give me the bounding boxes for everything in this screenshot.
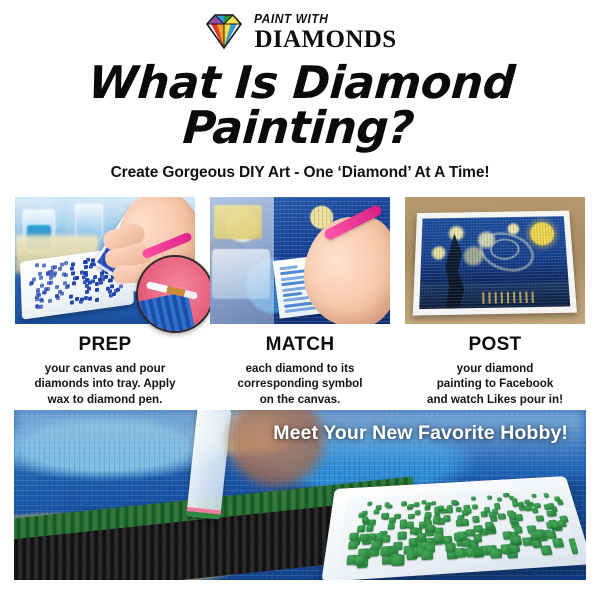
hobby-banner[interactable]: Meet Your New Favorite Hobby! [14, 410, 586, 580]
step-caption-post: POST your diamond painting to Facebook a… [405, 334, 585, 407]
step-title-match: MATCH [210, 334, 390, 356]
page-title: What Is Diamond Painting? [0, 60, 600, 150]
step-title-prep: PREP [15, 334, 195, 356]
step-body-line: your diamond [405, 361, 585, 376]
page-subtitle: Create Gorgeous DIY Art - One ‘Diamond’ … [0, 164, 600, 182]
step-body-line: on the canvas. [210, 392, 390, 407]
step-body-line: wax to diamond pen. [15, 392, 195, 407]
step-panel-match[interactable] [210, 197, 390, 324]
step-body-line: each diamond to its [210, 361, 390, 376]
brand-logo[interactable]: PAINT WITH DIAMONDS [0, 0, 600, 56]
step-caption-match: MATCH each diamond to its corresponding … [210, 334, 390, 407]
step-body-line: diamonds into tray. Apply [15, 376, 195, 391]
step-title-post: POST [405, 334, 585, 356]
step-body-line: your canvas and pour [15, 361, 195, 376]
step-panel-post[interactable] [405, 197, 585, 324]
brand-line-1: PAINT WITH [254, 12, 385, 25]
post-photo [405, 197, 585, 324]
brand-line-2: DIAMONDS [254, 27, 396, 52]
diamond-gem-icon [203, 12, 245, 52]
step-body-line: corresponding symbol [210, 376, 390, 391]
step-body-prep: your canvas and pour diamonds into tray.… [15, 361, 195, 407]
hobby-banner-title: Meet Your New Favorite Hobby! [273, 422, 568, 445]
step-caption-prep: PREP your canvas and pour diamonds into … [15, 334, 195, 407]
step-body-match: each diamond to its corresponding symbol… [210, 361, 390, 407]
step-body-post: your diamond painting to Facebook and wa… [405, 361, 585, 407]
match-photo [210, 197, 390, 324]
step-panel-prep[interactable] [15, 197, 195, 324]
diamond-tray [321, 476, 586, 580]
step-caption-row: PREP your canvas and pour diamonds into … [0, 334, 600, 407]
prep-photo-inset [136, 255, 214, 333]
step-image-row [0, 197, 600, 324]
step-body-line: painting to Facebook [405, 376, 585, 391]
step-body-line: and watch Likes pour in! [405, 392, 585, 407]
